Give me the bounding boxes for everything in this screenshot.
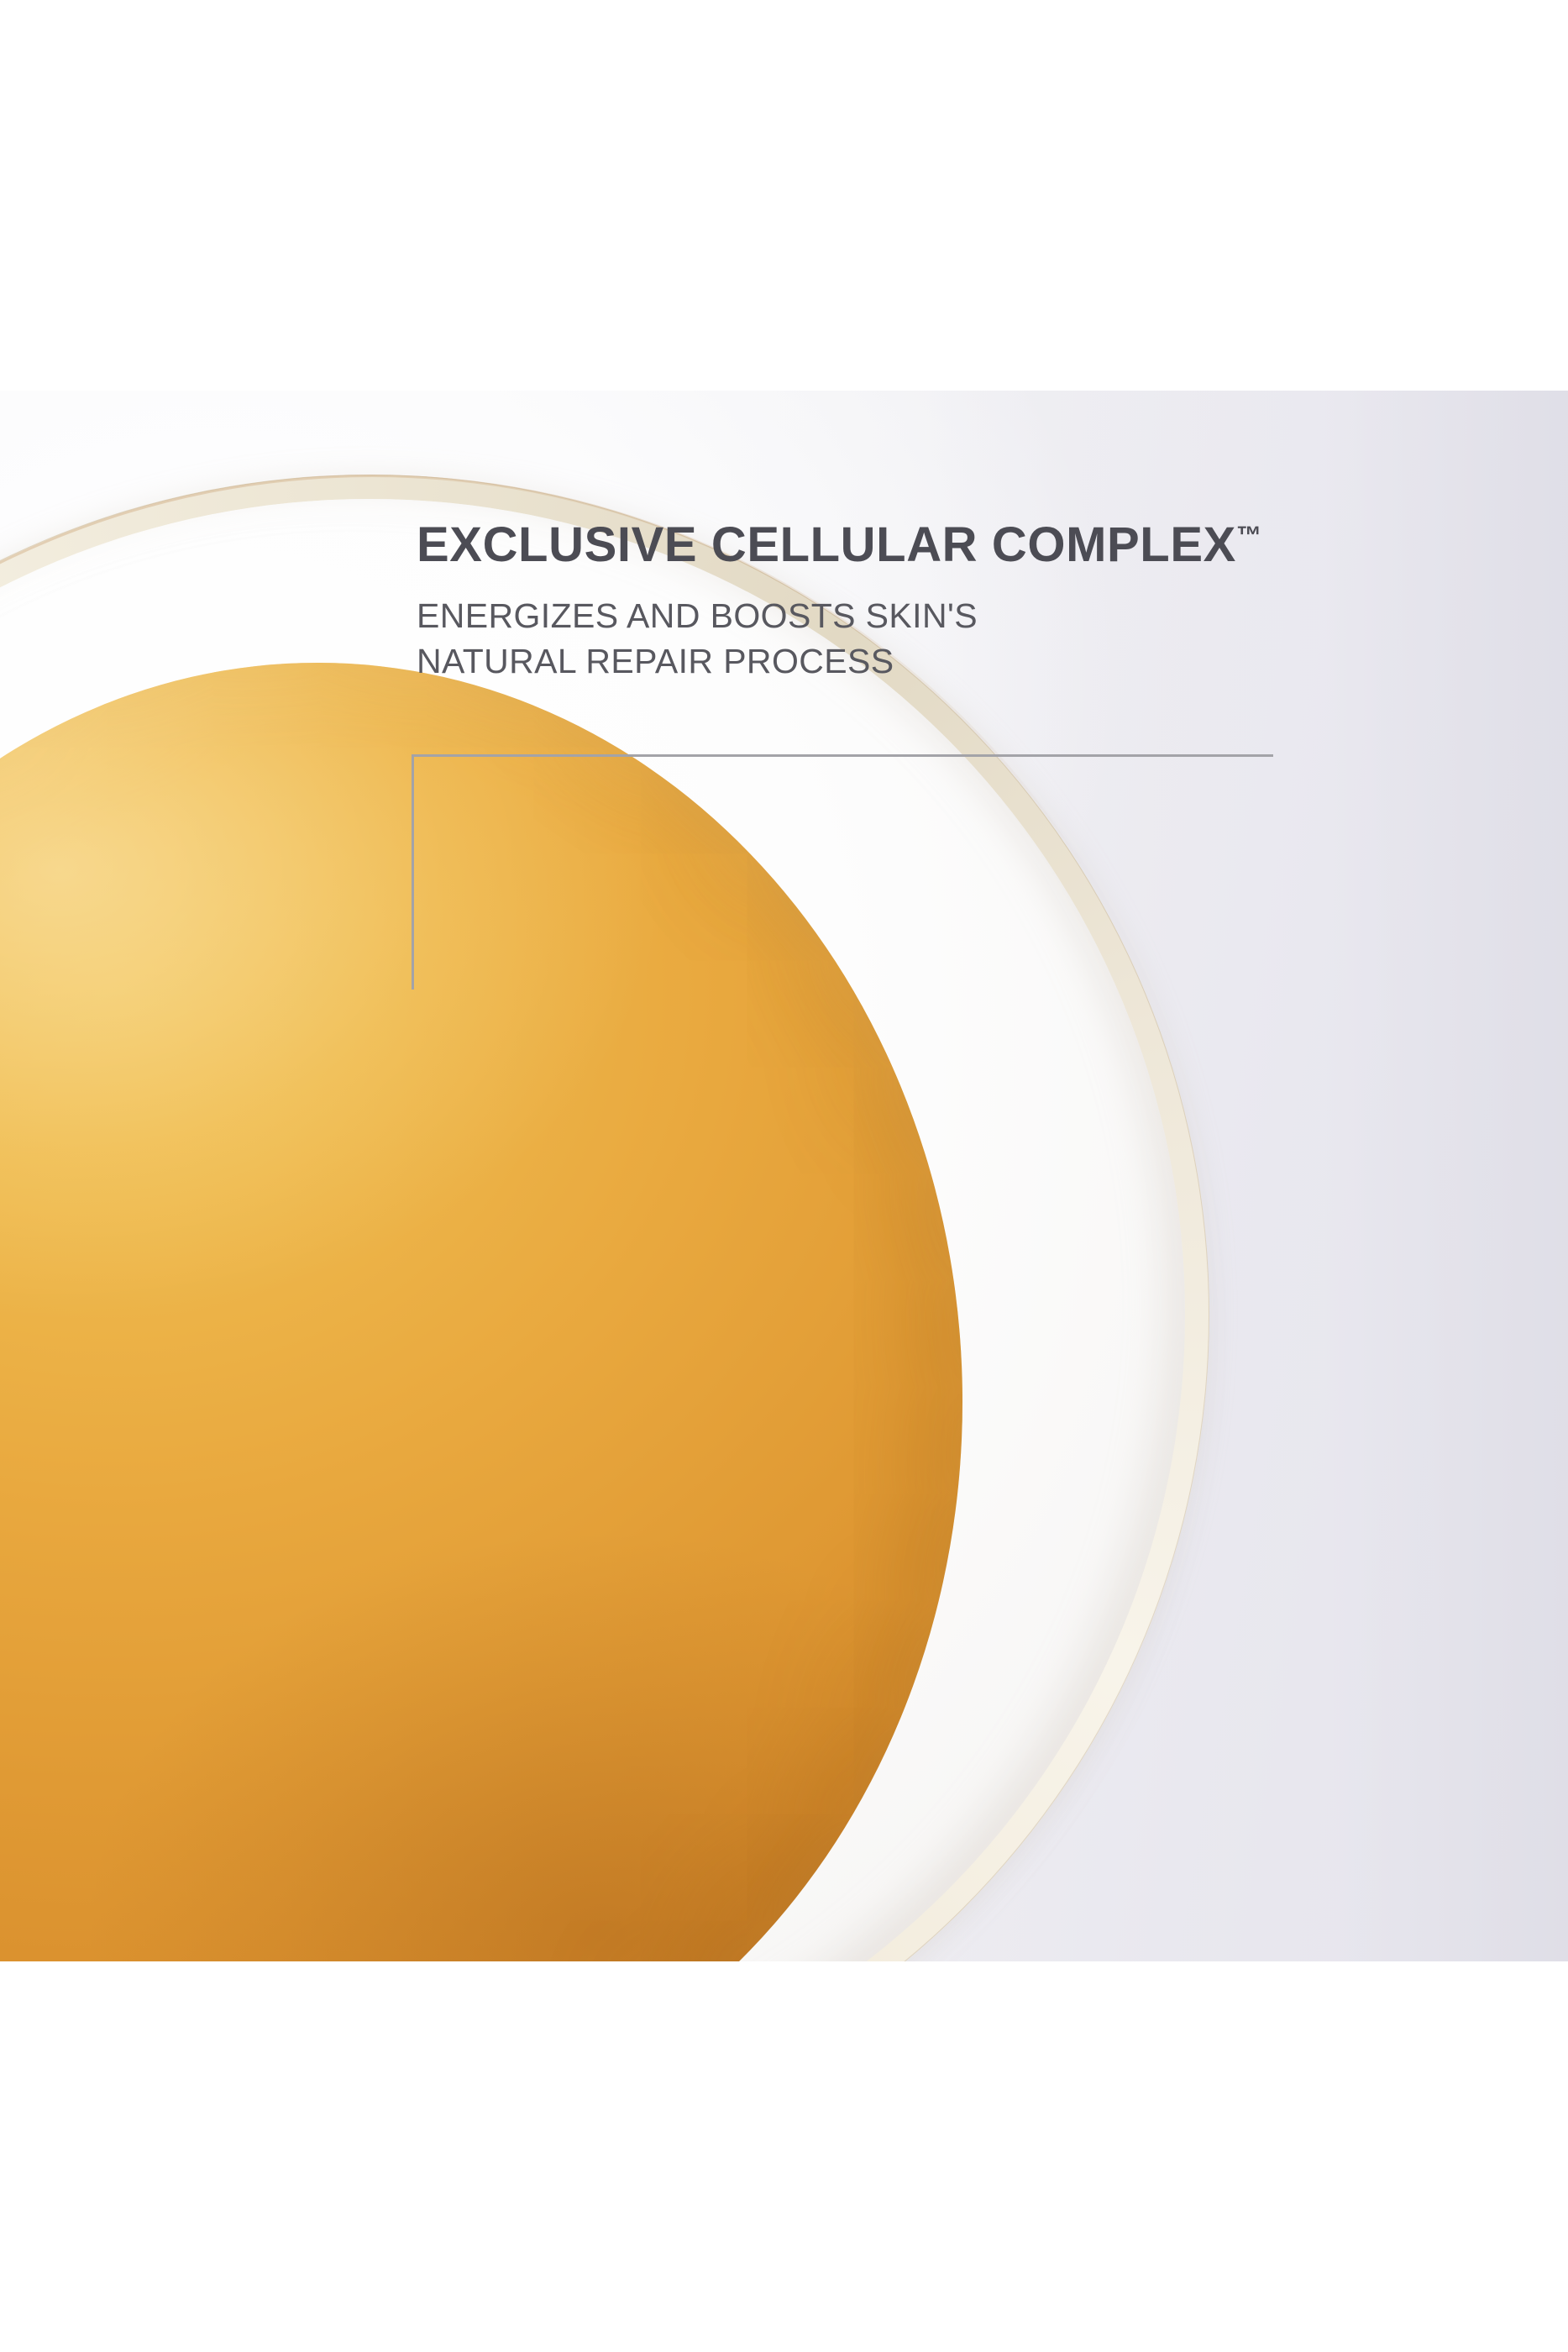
callout-subline-line-2: NATURAL REPAIR PROCESS — [417, 639, 1475, 684]
trademark-symbol: ™ — [1236, 522, 1261, 550]
leader-line-horizontal — [412, 754, 1273, 757]
screenshot-canvas: EXCLUSIVE CELLULAR COMPLEX™ ENERGIZES AN… — [0, 0, 1568, 2352]
callout-subline: ENERGIZES AND BOOSTS SKIN'S NATURAL REPA… — [417, 570, 1475, 684]
glass-dish — [0, 475, 1209, 1961]
callout-subline-line-1: ENERGIZES AND BOOSTS SKIN'S — [417, 594, 1475, 638]
callout-headline-text: EXCLUSIVE CELLULAR COMPLEX — [417, 517, 1236, 572]
callout-headline: EXCLUSIVE CELLULAR COMPLEX™ — [417, 519, 1475, 570]
callout-text-block: EXCLUSIVE CELLULAR COMPLEX™ ENERGIZES AN… — [417, 519, 1475, 684]
leader-line-vertical — [412, 754, 414, 990]
